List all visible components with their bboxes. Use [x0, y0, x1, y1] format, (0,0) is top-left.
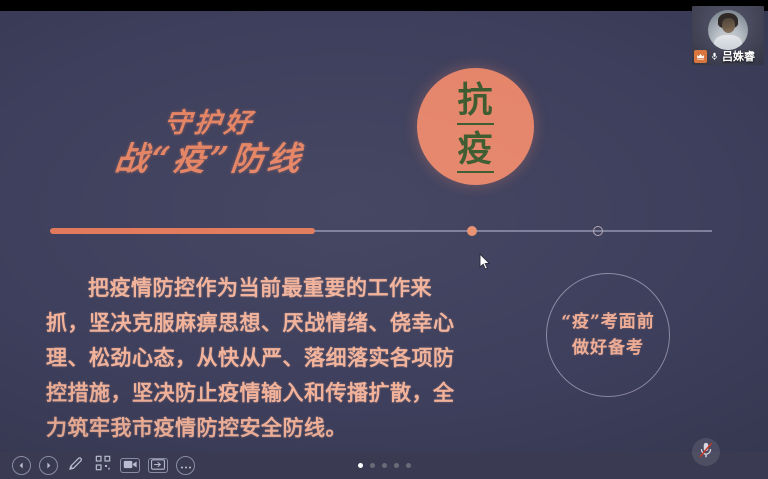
host-crown-icon [694, 50, 707, 63]
page-dot-4[interactable] [394, 463, 399, 468]
note-circle: “疫”考面前 做好备考 [546, 273, 670, 397]
page-dot-3[interactable] [382, 463, 387, 468]
avatar-body-shape [714, 35, 742, 50]
avatar-face-shape [722, 18, 736, 33]
timeline-node-active [467, 226, 477, 236]
presentation-slide[interactable]: 守护好 战“疫”防线 抗 疫 把疫情防控作为当前最重要的工作来抓，坚决克服麻痹思… [0, 11, 768, 452]
slide-body-text: 把疫情防控作为当前最重要的工作来抓，坚决克服麻痹思想、厌战情绪、侥幸心理、松劲心… [46, 270, 458, 445]
screen-root: 守护好 战“疫”防线 抗 疫 把疫情防控作为当前最重要的工作来抓，坚决克服麻痹思… [0, 0, 768, 479]
slide-title: 守护好 战“疫”防线 [44, 109, 374, 178]
webcam-label-row: 吕姝睿 [694, 50, 755, 63]
note-circle-line-1: “疫”考面前 [561, 309, 655, 335]
pagination-dots [0, 463, 768, 468]
participant-name-label: 吕姝睿 [722, 50, 755, 63]
microphone-icon [709, 50, 720, 63]
timeline-node-next [593, 226, 603, 236]
slide-title-line-1: 守护好 [42, 109, 375, 139]
slide-title-line-2: 战“疫”防线 [42, 141, 376, 178]
topic-badge-char-top: 抗 [457, 80, 493, 124]
page-dot-5[interactable] [406, 463, 411, 468]
page-dot-2[interactable] [370, 463, 375, 468]
participant-avatar [708, 10, 748, 50]
topic-badge-circle: 抗 疫 [417, 68, 534, 185]
page-dot-1[interactable] [358, 463, 363, 468]
microphone-muted-icon [697, 441, 715, 464]
webcam-pip-panel[interactable]: 吕姝睿 [692, 6, 764, 65]
note-circle-line-2: 做好备考 [572, 335, 644, 361]
mute-microphone-button[interactable] [692, 438, 720, 466]
topic-badge-char-bottom: 疫 [457, 129, 493, 173]
slide-timeline [50, 227, 712, 235]
timeline-progress-fill [50, 228, 315, 234]
